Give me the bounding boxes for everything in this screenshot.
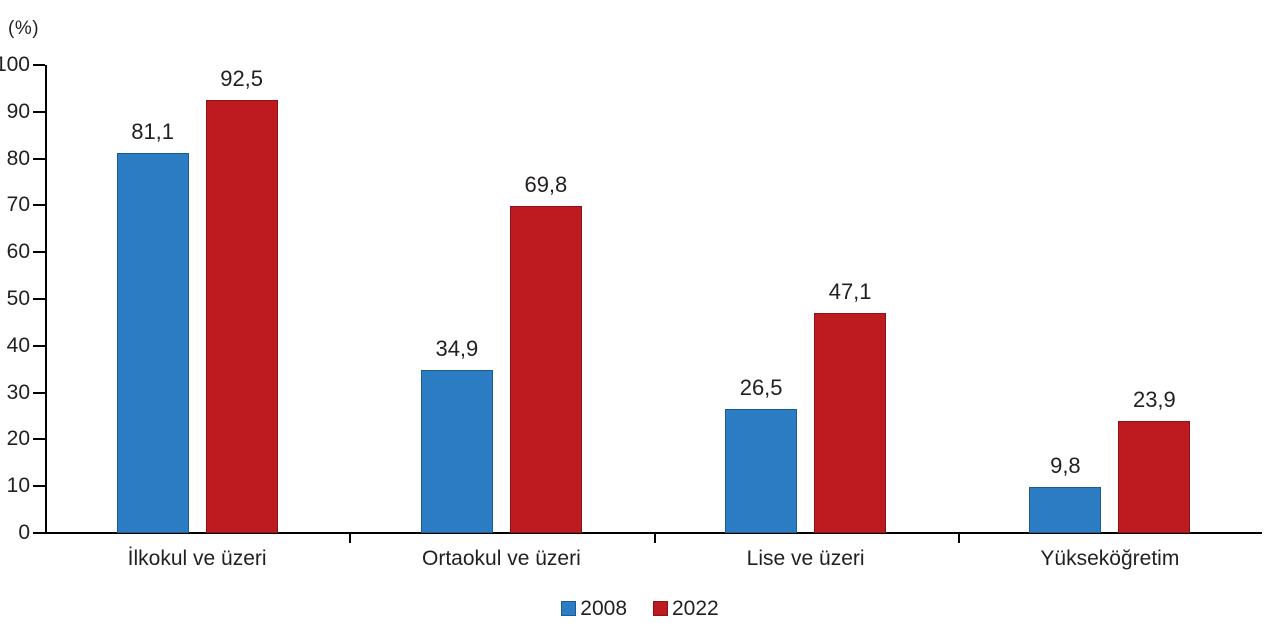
y-axis-tick-label: 0	[0, 522, 30, 543]
category-label: Yükseköğretim	[958, 548, 1262, 569]
legend-label: 2022	[672, 598, 719, 619]
legend-item-2022[interactable]: 2022	[653, 598, 719, 619]
y-axis-tick	[33, 345, 45, 347]
x-axis-tick	[958, 534, 960, 543]
legend-swatch-icon	[653, 601, 668, 616]
y-axis-tick	[33, 204, 45, 206]
bar-value-label: 23,9	[1098, 389, 1210, 411]
category-label: Ortaokul ve üzeri	[349, 548, 653, 569]
y-axis-tick-label: 70	[0, 194, 30, 215]
bar-value-label: 69,8	[490, 174, 602, 196]
y-axis-tick-label: 40	[0, 335, 30, 356]
y-axis-unit-label: (%)	[8, 18, 39, 40]
bar-2022-2[interactable]	[510, 206, 582, 533]
bar-value-label: 92,5	[186, 68, 298, 90]
legend-item-2008[interactable]: 2008	[561, 598, 627, 619]
bar-value-label: 9,8	[1009, 455, 1121, 477]
bar-2008-1[interactable]	[117, 153, 189, 533]
y-axis-tick	[33, 251, 45, 253]
y-axis-tick	[33, 532, 45, 534]
y-axis-tick	[33, 158, 45, 160]
y-axis-tick	[33, 111, 45, 113]
bar-2008-3[interactable]	[725, 409, 797, 533]
chart-legend: 2008 2022	[0, 598, 1280, 619]
y-axis-tick-label: 50	[0, 288, 30, 309]
bar-2008-4[interactable]	[1029, 487, 1101, 533]
bar-value-label: 34,9	[401, 338, 513, 360]
bar-2008-2[interactable]	[421, 370, 493, 533]
y-axis-tick	[33, 485, 45, 487]
category-label: Lise ve üzeri	[654, 548, 958, 569]
x-axis-tick	[654, 534, 656, 543]
y-axis-tick-label: 90	[0, 101, 30, 122]
bar-chart: (%) 0102030405060708090100 81,192,534,96…	[0, 0, 1280, 640]
bar-2022-4[interactable]	[1118, 421, 1190, 533]
x-axis-tick	[349, 534, 351, 543]
bar-value-label: 81,1	[97, 121, 209, 143]
legend-swatch-icon	[561, 601, 576, 616]
y-axis-tick-label: 60	[0, 241, 30, 262]
bar-2022-3[interactable]	[814, 313, 886, 533]
bar-value-label: 26,5	[705, 377, 817, 399]
bar-2022-1[interactable]	[206, 100, 278, 533]
y-axis-tick-label: 100	[0, 54, 30, 75]
bar-value-label: 47,1	[794, 281, 906, 303]
y-axis-tick	[33, 438, 45, 440]
y-axis-tick	[33, 298, 45, 300]
y-axis-tick-label: 10	[0, 475, 30, 496]
legend-label: 2008	[580, 598, 627, 619]
category-label: İlkokul ve üzeri	[45, 548, 349, 569]
y-axis-tick	[33, 392, 45, 394]
y-axis-tick	[33, 64, 45, 66]
y-axis-tick-label: 20	[0, 428, 30, 449]
y-axis-line	[45, 65, 47, 534]
y-axis-tick-label: 80	[0, 148, 30, 169]
y-axis-tick-label: 30	[0, 382, 30, 403]
